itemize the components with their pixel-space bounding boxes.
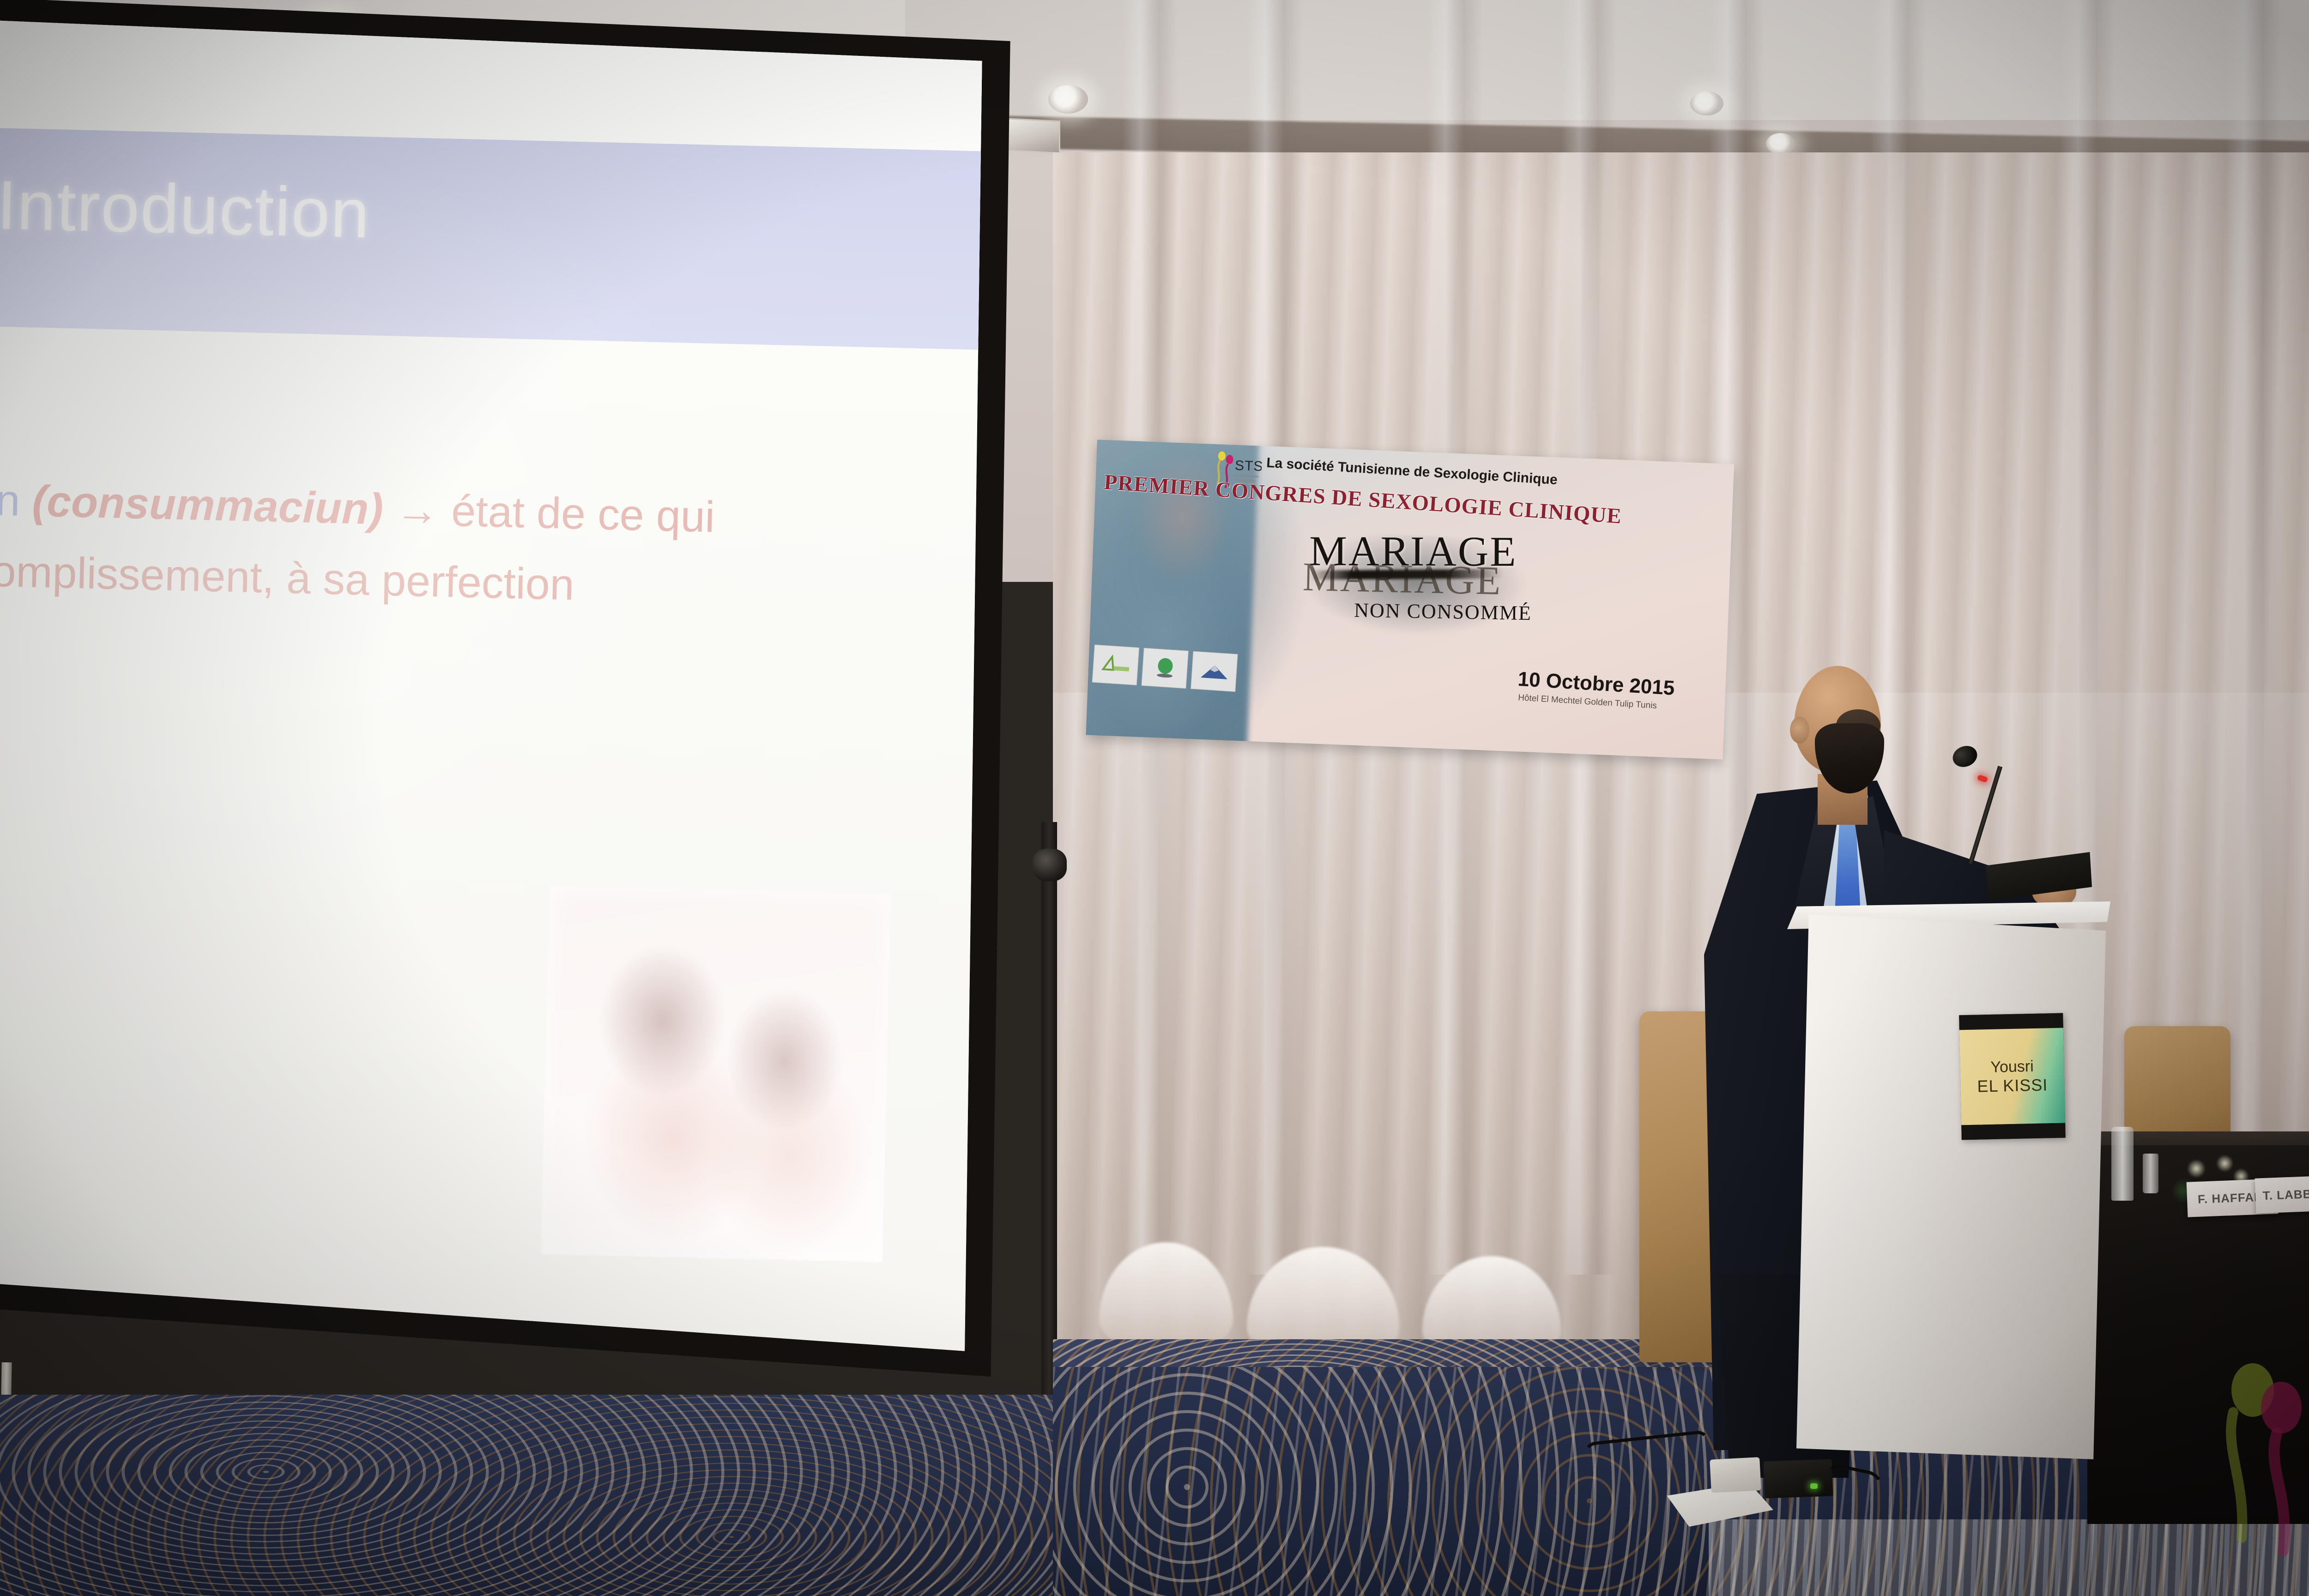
sponsor-mountain-logo-icon: [1191, 651, 1238, 692]
slide-illustration-photo: [541, 885, 891, 1262]
adapter-status-led: [1810, 1483, 1818, 1489]
nameplate-last-name: EL KISSI: [1977, 1075, 2048, 1096]
stage-skirt-fabric: [1709, 1519, 2309, 1596]
power-adapter-white: [1710, 1457, 1761, 1493]
slide-arrow-glyph: →: [395, 485, 440, 535]
screen-adjust-knob[interactable]: [1033, 849, 1067, 881]
nameplate-face: Yousri EL KISSI: [1959, 1028, 2065, 1125]
panel-namecard-label: T. LABBANE: [2262, 1185, 2309, 1203]
nameplate-first-name: Yousri: [1990, 1058, 2034, 1076]
slide-header-title: Introduction: [0, 165, 371, 254]
nameplate-top-band: [1959, 1013, 2063, 1030]
curtain-fold: [2226, 0, 2281, 1275]
panel-namecard: T. LABBANE: [2255, 1175, 2309, 1213]
speaker-nameplate: Yousri EL KISSI: [1959, 1013, 2066, 1140]
banner-theme-subtitle: NON CONSOMMÉ: [1354, 598, 1532, 625]
speaker-ear: [1790, 717, 1809, 744]
projection-screen: Introduction sommation (consummaciun) → …: [0, 0, 1090, 1459]
presentation-slide: Introduction sommation (consummaciun) → …: [0, 0, 1030, 1362]
banner-theme-main: MARIAGE: [1309, 526, 1517, 576]
slide-body-line-1-rest: état de ce qui: [451, 487, 715, 542]
congress-banner: STSC La société Tunisienne de Sexologie …: [1086, 440, 1734, 760]
screen-surface: Introduction sommation (consummaciun) → …: [0, 0, 1030, 1399]
sponsor-leaf-logo-icon: [1092, 645, 1139, 685]
slide-etymology: (consummaciun): [32, 477, 384, 534]
floor-carpet-left: [0, 1395, 1108, 1596]
conference-photo: STSC La société Tunisienne de Sexologie …: [0, 0, 2309, 1596]
ceiling-light-icon: [1766, 133, 1795, 154]
sponsor-teriak-logo-icon: [1141, 648, 1188, 689]
podium: [1796, 914, 2106, 1459]
nameplate-bottom-band: [1961, 1123, 2066, 1140]
slide-body-text: sommation (consummaciun) → état de ce qu…: [0, 461, 914, 629]
water-bottle[interactable]: [2111, 1127, 2134, 1201]
svg-text:STSC: STSC: [1234, 458, 1262, 474]
slide-keyword: sommation: [0, 472, 21, 526]
drinking-glass[interactable]: [2143, 1154, 2158, 1193]
